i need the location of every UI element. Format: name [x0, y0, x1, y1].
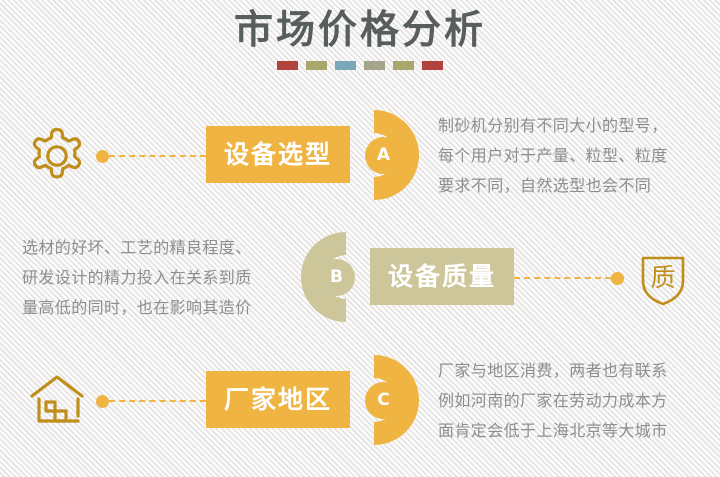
gear-icon — [22, 121, 92, 191]
badge-letter-c-text: C — [377, 392, 389, 409]
connector-a — [96, 149, 206, 163]
shield-quality-icon: 质 — [628, 243, 698, 313]
connector-line — [514, 277, 611, 279]
connector-dot — [96, 395, 109, 408]
title-dash-6 — [422, 61, 443, 70]
badge-letter-b: B — [318, 259, 355, 296]
connector-b — [514, 271, 624, 285]
paragraph-b-line-3: 量高低的同时，也在影响其造价 — [22, 293, 288, 323]
infographic-page: 市场价格分析 设备选型 — [0, 0, 720, 477]
row-equipment-selection: 设备选型 A 制砂机分别有不同大小的型号， 每个用户对于产量、粒型、粒度 要求不… — [0, 103, 720, 208]
connector-c — [96, 394, 206, 408]
row-equipment-quality: 质 设备质量 B 选材的好坏、工艺的精良程度、 研发设计的精力投入在关系到质 量… — [0, 225, 720, 330]
header: 市场价格分析 — [0, 6, 720, 70]
title-dash-5 — [393, 61, 414, 70]
paragraph-c-line-1: 厂家与地区消费，两者也有联系 — [438, 356, 704, 386]
badge-letter-b-text: B — [330, 269, 343, 286]
connector-line — [109, 400, 206, 402]
title-dash-4 — [364, 61, 385, 70]
badge-letter-c: C — [365, 382, 402, 419]
paragraph-b: 选材的好坏、工艺的精良程度、 研发设计的精力投入在关系到质 量高低的同时，也在影… — [22, 233, 288, 323]
badge-label-b: 设备质量 — [388, 264, 496, 289]
paragraph-c-line-2: 例如河南的厂家在劳动力成本方 — [438, 386, 704, 416]
paragraph-c: 厂家与地区消费，两者也有联系 例如河南的厂家在劳动力成本方 面肯定会低于上海北京… — [438, 356, 704, 446]
badge-label-a: 设备选型 — [224, 142, 332, 167]
paragraph-a-line-2: 每个用户对于产量、粒型、粒度 — [438, 141, 704, 171]
connector-line — [109, 155, 206, 157]
page-title: 市场价格分析 — [0, 6, 720, 56]
paragraph-a-line-1: 制砂机分别有不同大小的型号， — [438, 111, 704, 141]
title-dash-1 — [277, 61, 298, 70]
paragraph-b-line-1: 选材的好坏、工艺的精良程度、 — [22, 233, 288, 263]
paragraph-a: 制砂机分别有不同大小的型号， 每个用户对于产量、粒型、粒度 要求不同，自然选型也… — [438, 111, 704, 201]
badge-label-c: 厂家地区 — [224, 387, 332, 412]
factory-house-icon — [22, 366, 92, 436]
paragraph-b-line-2: 研发设计的精力投入在关系到质 — [22, 263, 288, 293]
paragraph-a-line-3: 要求不同，自然选型也会不同 — [438, 171, 704, 201]
connector-dot — [611, 272, 624, 285]
shield-glyph: 质 — [650, 263, 675, 292]
title-dash-row — [0, 61, 720, 70]
connector-dot — [96, 150, 109, 163]
title-dash-3 — [335, 61, 356, 70]
title-dash-2 — [306, 61, 327, 70]
badge-letter-a: A — [365, 137, 402, 174]
row-manufacturer-region: 厂家地区 C 厂家与地区消费，两者也有联系 例如河南的厂家在劳动力成本方 面肯定… — [0, 348, 720, 453]
badge-letter-a-text: A — [377, 147, 390, 164]
paragraph-c-line-3: 面肯定会低于上海北京等大城市 — [438, 416, 704, 446]
